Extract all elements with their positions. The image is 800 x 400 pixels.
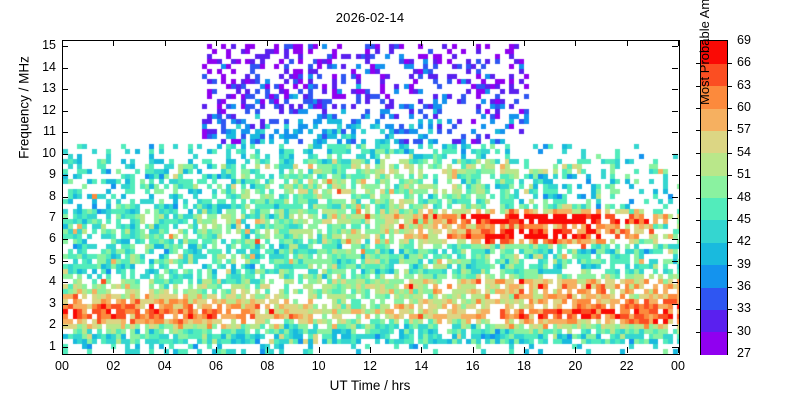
y-tick-label: 2 [16,317,56,331]
y-tick-right [672,239,678,240]
colorbar-tick-label: 33 [737,301,751,315]
x-tick-top [678,40,679,46]
colorbar-tick [727,309,732,310]
y-tick [62,239,68,240]
x-tick-label: 14 [406,359,436,373]
colorbar-tick-label: 27 [737,346,751,360]
colorbar-tick-label: 48 [737,190,751,204]
x-tick-top [524,40,525,46]
x-tick-label: 12 [355,359,385,373]
x-tick-label: 20 [560,359,590,373]
page-title: 2026-02-14 [0,10,740,25]
colorbar-band [701,130,727,153]
heatmap-canvas [63,41,679,354]
colorbar-tick-label: 57 [737,122,751,136]
colorbar-tick-left [696,153,701,154]
x-tick-top [165,40,166,46]
colorbar-tick-label: 54 [737,145,751,159]
colorbar-tick-left [696,198,701,199]
colorbar-tick-left [696,108,701,109]
colorbar-tick-left [696,265,701,266]
y-tick-right [672,197,678,198]
y-tick [62,111,68,112]
y-tick-right [672,282,678,283]
colorbar-tick [727,86,732,87]
x-tick [113,347,114,353]
colorbar-tick-label: 51 [737,167,751,181]
y-tick-right [672,132,678,133]
colorbar-band [701,265,727,288]
colorbar-tick-left [696,287,701,288]
colorbar-tick [727,198,732,199]
heatmap-plot-area[interactable] [62,40,680,355]
colorbar-tick-left [696,309,701,310]
colorbar-tick-left [696,332,701,333]
y-tick-right [672,68,678,69]
x-tick-top [267,40,268,46]
y-tick [62,261,68,262]
y-tick [62,154,68,155]
colorbar-tick [727,287,732,288]
y-tick [62,132,68,133]
colorbar-tick [727,63,732,64]
y-tick-label: 6 [16,231,56,245]
y-tick-label: 1 [16,339,56,353]
colorbar-tick-label: 69 [737,33,751,47]
colorbar-band [701,153,727,176]
x-tick-label: 16 [458,359,488,373]
colorbar-tick-left [696,242,701,243]
x-tick [421,347,422,353]
colorbar-band [701,220,727,243]
y-tick-label: 5 [16,253,56,267]
x-tick [678,347,679,353]
ionogram-figure: 2026-02-14 12345678910111213141500020406… [0,0,800,400]
y-tick [62,197,68,198]
y-tick [62,89,68,90]
y-tick-right [672,218,678,219]
colorbar-band [701,287,727,310]
colorbar-tick [727,242,732,243]
colorbar-tick [727,332,732,333]
y-tick [62,325,68,326]
colorbar-tick [727,175,732,176]
colorbar-title: Most Probable Amplitude MPA / dB [697,0,712,105]
y-tick [62,46,68,47]
x-tick-top [627,40,628,46]
y-tick-right [672,325,678,326]
colorbar-tick-label: 66 [737,55,751,69]
y-tick-label: 7 [16,210,56,224]
x-tick [370,347,371,353]
y-tick-right [672,261,678,262]
y-tick-right [672,154,678,155]
y-tick-label: 3 [16,296,56,310]
x-tick-top [216,40,217,46]
y-tick [62,68,68,69]
x-tick [267,347,268,353]
x-axis-title: UT Time / hrs [62,378,678,393]
x-tick-label: 08 [252,359,282,373]
x-tick-label: 10 [304,359,334,373]
colorbar-band [701,332,727,355]
x-tick-top [421,40,422,46]
y-tick-right [672,46,678,47]
colorbar-band [701,309,727,332]
y-tick-right [672,111,678,112]
colorbar-tick-label: 42 [737,234,751,248]
colorbar-tick-left [696,130,701,131]
x-tick-top [113,40,114,46]
colorbar-tick [727,153,732,154]
x-tick-label: 00 [663,359,693,373]
x-tick-top [473,40,474,46]
colorbar-tick-label: 39 [737,257,751,271]
colorbar-tick-label: 63 [737,78,751,92]
y-axis-title: Frequency / MHz [17,8,32,208]
x-tick-top [62,40,63,46]
y-tick-right [672,175,678,176]
colorbar-tick-left [696,220,701,221]
y-tick-right [672,304,678,305]
colorbar-tick [727,108,732,109]
colorbar-tick-label: 60 [737,100,751,114]
x-tick-top [370,40,371,46]
colorbar-tick [727,220,732,221]
x-tick [165,347,166,353]
y-tick-label: 4 [16,274,56,288]
colorbar-tick-label: 30 [737,324,751,338]
x-tick [216,347,217,353]
x-tick-label: 04 [150,359,180,373]
y-tick [62,282,68,283]
x-tick [319,347,320,353]
x-tick [524,347,525,353]
x-tick [62,347,63,353]
x-tick [473,347,474,353]
x-tick-label: 22 [612,359,642,373]
x-tick-label: 02 [98,359,128,373]
colorbar-tick [727,265,732,266]
y-tick [62,175,68,176]
x-tick-top [575,40,576,46]
colorbar-tick [727,130,732,131]
colorbar-tick-left [696,175,701,176]
x-tick-label: 06 [201,359,231,373]
colorbar-tick-label: 45 [737,212,751,226]
x-tick-top [319,40,320,46]
colorbar-band [701,175,727,198]
colorbar-band [701,108,727,131]
x-tick-label: 18 [509,359,539,373]
colorbar-tick-label: 36 [737,279,751,293]
x-tick-label: 00 [47,359,77,373]
x-tick [627,347,628,353]
y-tick-right [672,89,678,90]
colorbar-band [701,242,727,265]
x-tick [575,347,576,353]
y-tick [62,304,68,305]
colorbar-band [701,198,727,221]
y-tick [62,218,68,219]
